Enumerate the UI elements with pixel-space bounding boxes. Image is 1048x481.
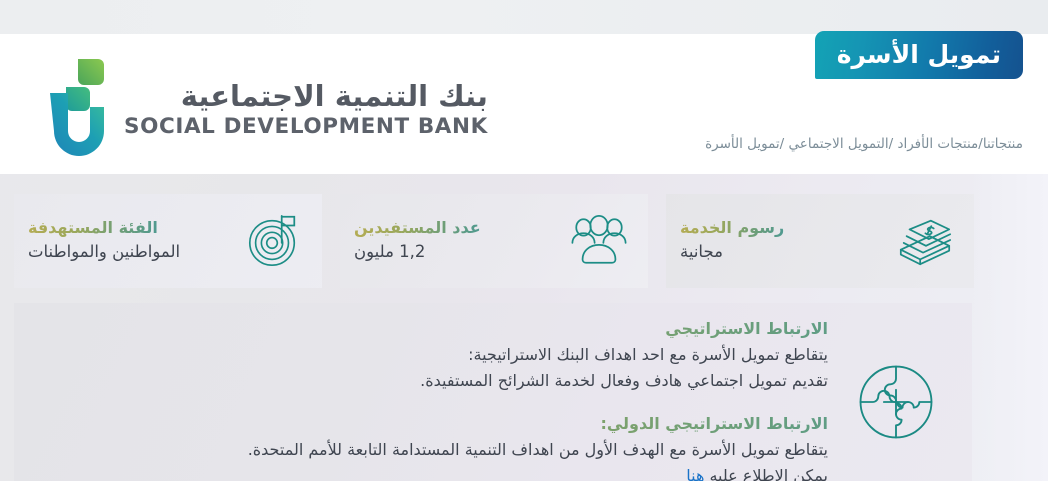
stat-value: مجانية — [680, 241, 723, 262]
target-flag-icon — [242, 210, 304, 272]
page-header: بنك التنمية الاجتماعية SOCIAL DEVELOPMEN… — [0, 0, 1048, 174]
stat-label: عدد المستفيدين — [354, 218, 481, 237]
stat-value: 1,2 مليون — [354, 241, 425, 262]
brand-name-english: SOCIAL DEVELOPMENT BANK — [124, 116, 488, 138]
international-linkage-line-2-prefix: يمكن الاطلاع عليه — [704, 466, 828, 481]
strategic-linkage-local: الارتباط الاستراتيجي يتقاطع تمويل الأسرة… — [40, 317, 828, 394]
page-title-badge: تمويل الأسرة — [815, 31, 1023, 79]
local-linkage-heading: الارتباط الاستراتيجي — [40, 317, 828, 341]
stat-card-body: عدد المستفيدين 1,2 مليون — [354, 218, 554, 265]
local-linkage-line-2: تقديم تمويل اجتماعي هادف وفعال لخدمة الش… — [40, 368, 828, 394]
breadcrumb[interactable]: منتجاتنا/منتجات الأفراد /التمويل الاجتما… — [705, 136, 1023, 152]
cash-stack-icon — [894, 210, 956, 272]
page-title: تمويل الأسرة — [837, 42, 1001, 67]
international-linkage-line-1: يتقاطع تمويل الأسرة مع الهدف الأول من اه… — [40, 437, 828, 463]
brand-name-arabic: بنك التنمية الاجتماعية — [181, 82, 488, 111]
stat-card-body: رسوم الخدمة مجانية — [680, 218, 880, 265]
stat-label: رسوم الخدمة — [680, 218, 784, 237]
stat-card-service-fees: رسوم الخدمة مجانية — [666, 194, 974, 288]
bank-logo-card[interactable]: بنك التنمية الاجتماعية SOCIAL DEVELOPMEN… — [10, 35, 440, 172]
stats-card-row: الفئة المستهدفة المواطنين والمواطنات — [14, 194, 1024, 288]
strategic-linkage-international: الارتباط الاستراتيجي الدولي: يتقاطع تموي… — [40, 412, 828, 481]
stat-card-body: الفئة المستهدفة المواطنين والمواطنات — [28, 218, 228, 265]
strategic-linkage-panel: الارتباط الاستراتيجي يتقاطع تمويل الأسرة… — [14, 303, 972, 481]
logo-wrap: بنك التنمية الاجتماعية SOCIAL DEVELOPMEN… — [10, 35, 440, 172]
stat-card-beneficiaries: عدد المستفيدين 1,2 مليون — [340, 194, 648, 288]
international-linkage-line-2: يمكن الاطلاع عليه هنا — [40, 463, 828, 481]
logo-text: بنك التنمية الاجتماعية SOCIAL DEVELOPMEN… — [124, 82, 488, 138]
product-page: بنك التنمية الاجتماعية SOCIAL DEVELOPMEN… — [0, 0, 1048, 481]
local-linkage-line-1: يتقاطع تمويل الأسرة مع احد اهداف البنك ا… — [40, 342, 828, 368]
stat-value: المواطنين والمواطنات — [28, 241, 180, 262]
international-linkage-heading: الارتباط الاستراتيجي الدولي: — [40, 412, 828, 436]
sdb-logo-mark-icon — [26, 53, 106, 161]
strategy-text-block: الارتباط الاستراتيجي يتقاطع تمويل الأسرة… — [34, 313, 828, 481]
stat-label: الفئة المستهدفة — [28, 218, 158, 237]
stat-card-target-category: الفئة المستهدفة المواطنين والمواطنات — [14, 194, 322, 288]
sdg-reference-link[interactable]: هنا — [686, 466, 704, 481]
users-group-icon — [568, 210, 630, 272]
puzzle-circle-icon — [848, 313, 944, 481]
